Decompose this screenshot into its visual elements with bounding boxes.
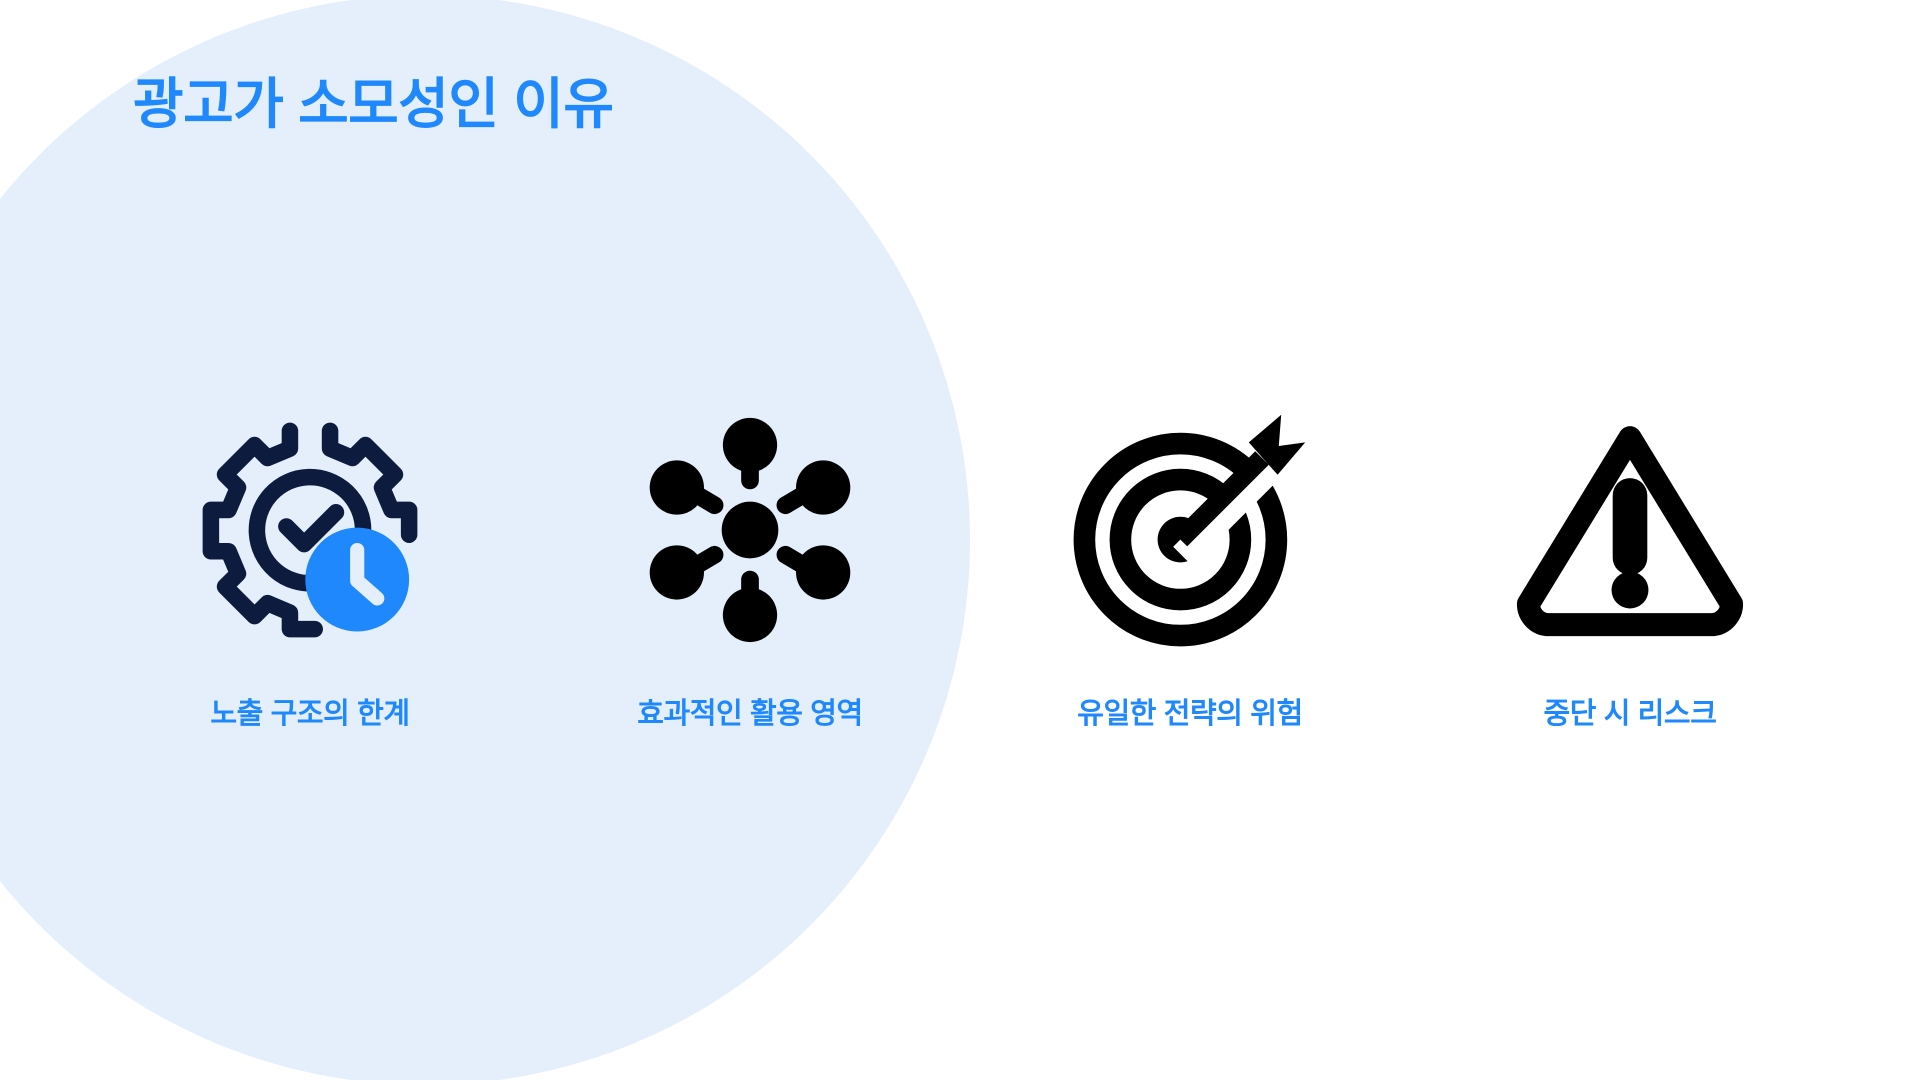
feature-item-4[interactable]: 중단 시 리스크 (1510, 400, 1750, 732)
network-hub-icon (630, 400, 870, 660)
gear-check-clock-icon (190, 400, 430, 660)
feature-row: 노출 구조의 한계 (0, 400, 1920, 820)
feature-item-3[interactable]: 유일한 전략의 위험 (1070, 400, 1310, 732)
slide-canvas: 광고가 소모성인 이유 (0, 0, 1920, 1080)
feature-item-2-label: 효과적인 활용 영역 (637, 690, 863, 732)
feature-item-2[interactable]: 효과적인 활용 영역 (630, 400, 870, 732)
target-bullseye-arrow-icon (1070, 400, 1310, 660)
feature-item-1-label: 노출 구조의 한계 (210, 690, 409, 732)
feature-item-3-label: 유일한 전략의 위험 (1077, 690, 1303, 732)
feature-item-1[interactable]: 노출 구조의 한계 (190, 400, 430, 732)
page-title: 광고가 소모성인 이유 (133, 72, 613, 137)
warning-triangle-icon (1510, 400, 1750, 660)
feature-item-4-label: 중단 시 리스크 (1544, 690, 1717, 732)
